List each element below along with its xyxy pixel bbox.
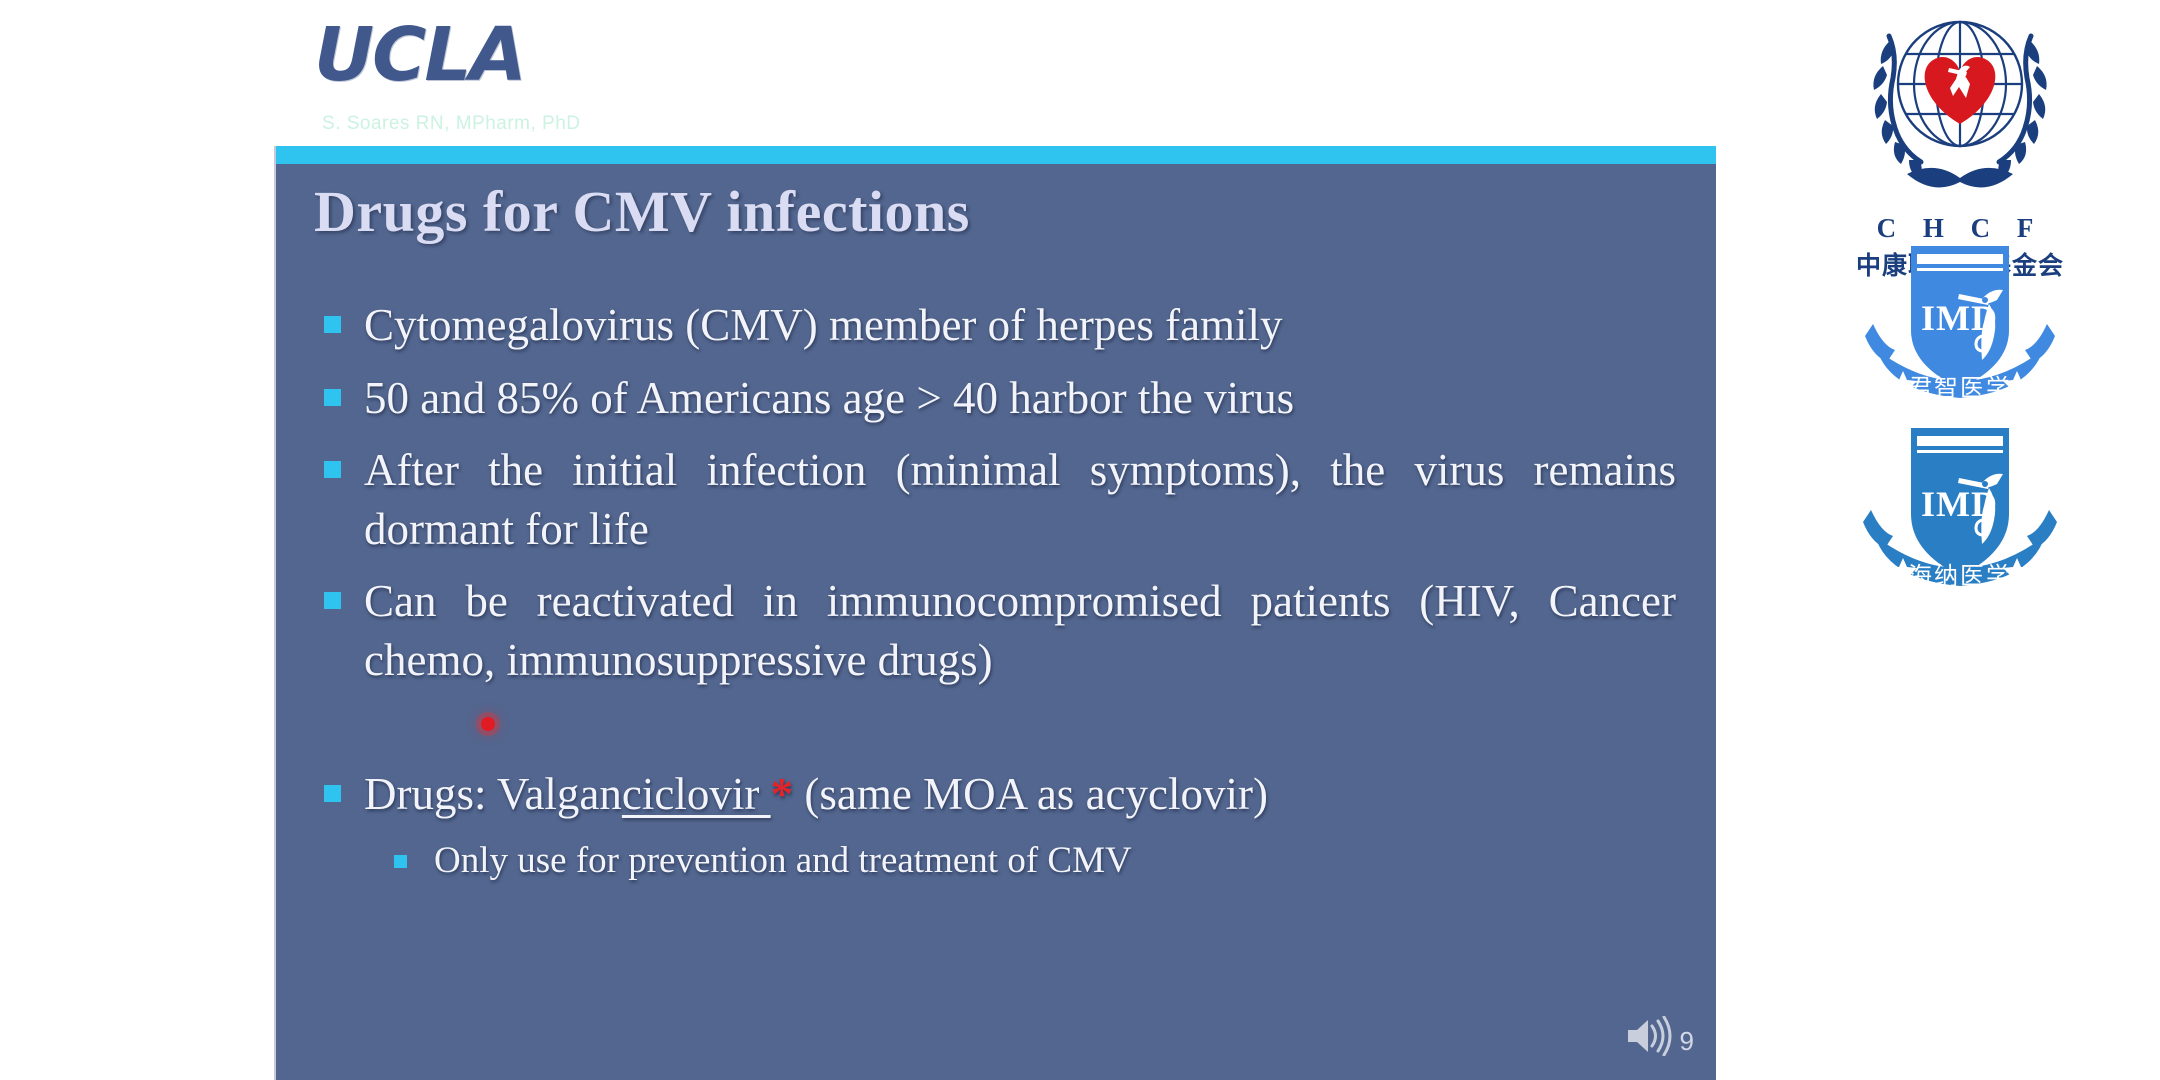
asterisk-marker: * <box>771 769 794 819</box>
sub-bullet-text: Only use for prevention and treatment of… <box>434 838 1676 884</box>
author-credit-line: S. Soares RN, MPharm, PhD <box>322 113 581 135</box>
logo-imd-junzhi: IMD 君智医学 <box>1760 238 2160 423</box>
page-title: Drugs for CMV infections <box>314 178 970 245</box>
drug-suffix: (same MOA as acyclovir) <box>793 769 1268 819</box>
speaker-icon[interactable] <box>1624 1016 1676 1061</box>
bullet-text: Can be reactivated in immunocompromised … <box>364 572 1676 689</box>
drug-prefix: Drugs: Valgan <box>364 769 622 819</box>
list-item: Cytomegalovirus (CMV) member of herpes f… <box>316 296 1676 355</box>
bullet-text: 50 and 85% of Americans age > 40 harbor … <box>364 369 1676 428</box>
slide-number: 9 <box>1680 1028 1694 1054</box>
list-item: After the initial infection (minimal sym… <box>316 441 1676 558</box>
sub-bullet-square-icon <box>394 855 407 868</box>
list-item: 50 and 85% of Americans age > 40 harbor … <box>316 369 1676 428</box>
drug-underlined: ciclovir <box>622 769 771 819</box>
globe-laurel-heart-icon <box>1845 193 2075 210</box>
slide-body: Drugs for CMV infections Cytomegalovirus… <box>276 146 1716 1080</box>
bullet-square-icon <box>324 592 341 609</box>
list-item: Can be reactivated in immunocompromised … <box>316 572 1676 689</box>
logo-imd-haina: IMD 海纳医学 <box>1760 418 2160 613</box>
list-item-drugs: Drugs: Valganciclovir * (same MOA as acy… <box>316 765 1676 824</box>
bullet-list: Cytomegalovirus (CMV) member of herpes f… <box>316 296 1676 884</box>
slide-accent-bar <box>276 146 1716 164</box>
ucla-logo: UCLA <box>314 18 525 92</box>
bullet-text: After the initial infection (minimal sym… <box>364 441 1676 558</box>
bullet-text: Drugs: Valganciclovir * (same MOA as acy… <box>364 765 1676 824</box>
logo-sidebar: C H C F 中康联公益基金会 IMD <box>1760 0 2160 1080</box>
sub-list-item: Only use for prevention and treatment of… <box>316 838 1676 884</box>
imd-shield-icon: IMD 海纳医学 <box>1855 595 2065 612</box>
red-dot-annotation-icon <box>481 717 495 731</box>
presentation-area: UCLA S. Soares RN, MPharm, PhD Drugs for… <box>0 0 1760 1080</box>
bullet-text: Cytomegalovirus (CMV) member of herpes f… <box>364 296 1676 355</box>
bullet-square-icon <box>324 316 341 333</box>
bullet-square-icon <box>324 389 341 406</box>
bullet-square-icon <box>324 461 341 478</box>
annotation-row <box>316 703 1676 765</box>
audio-badge[interactable]: 9 <box>1624 1010 1694 1062</box>
bullet-square-icon <box>324 785 341 802</box>
svg-text:君智医学: 君智医学 <box>1908 374 2012 402</box>
slide-header: UCLA S. Soares RN, MPharm, PhD <box>276 0 1716 150</box>
slide-viewer: UCLA S. Soares RN, MPharm, PhD Drugs for… <box>0 0 2160 1080</box>
svg-text:海纳医学: 海纳医学 <box>1908 562 2012 590</box>
